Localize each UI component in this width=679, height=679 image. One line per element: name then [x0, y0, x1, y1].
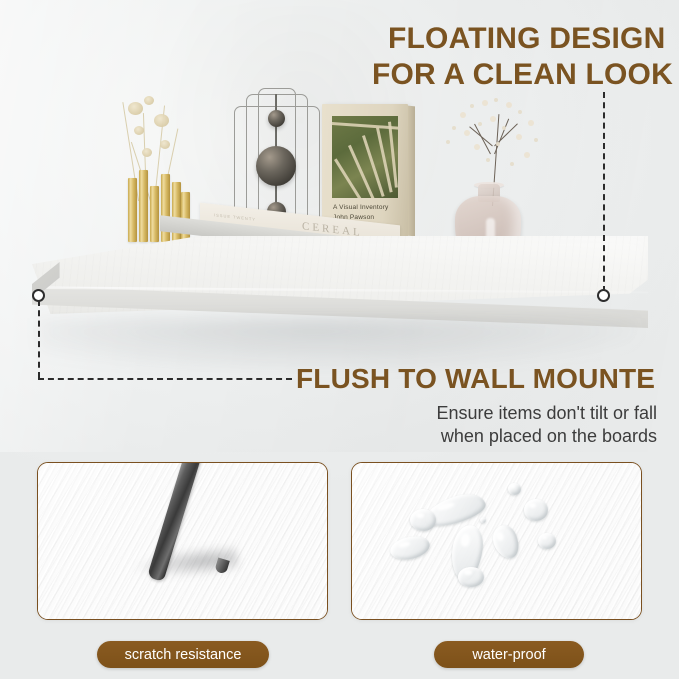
callout-line-right-vertical	[603, 92, 605, 292]
badge-scratch-resistance: scratch resistance	[97, 641, 269, 668]
water-drop-icon	[410, 509, 436, 531]
callout-dot-right	[597, 289, 610, 302]
heading-floating-design-line1: FLOATING DESIGN	[388, 24, 665, 54]
feature-panel-scratch-resistance	[37, 462, 328, 620]
book-title: A Visual Inventory	[333, 204, 389, 211]
water-drop-icon	[480, 517, 486, 523]
book-cover-photo	[332, 116, 398, 198]
callout-line-left-horizontal	[38, 378, 292, 380]
water-drop-icon	[538, 533, 556, 549]
product-feature-graphic: A Visual Inventory John Pawson ISSUE TWE…	[0, 0, 679, 679]
feature-panel-water-proof	[351, 462, 642, 620]
badge-water-proof: water-proof	[434, 641, 584, 668]
magazine-subtitle: ISSUE TWENTY	[214, 212, 256, 222]
callout-dot-left	[32, 289, 45, 302]
heading-flush-to-wall-mount: FLUSH TO WALL MOUNTE	[296, 365, 655, 393]
heading-floating-design-line2: FOR A CLEAN LOOK	[372, 60, 673, 90]
water-drop-icon	[458, 567, 484, 587]
subtitle-line1: Ensure items don't tilt or fall	[436, 402, 657, 425]
water-drop-icon	[524, 499, 548, 521]
callout-line-left-vertical	[38, 300, 40, 378]
subtitle-line2: when placed on the boards	[441, 425, 657, 448]
book-spine	[408, 106, 415, 237]
water-drop-icon	[508, 483, 521, 495]
